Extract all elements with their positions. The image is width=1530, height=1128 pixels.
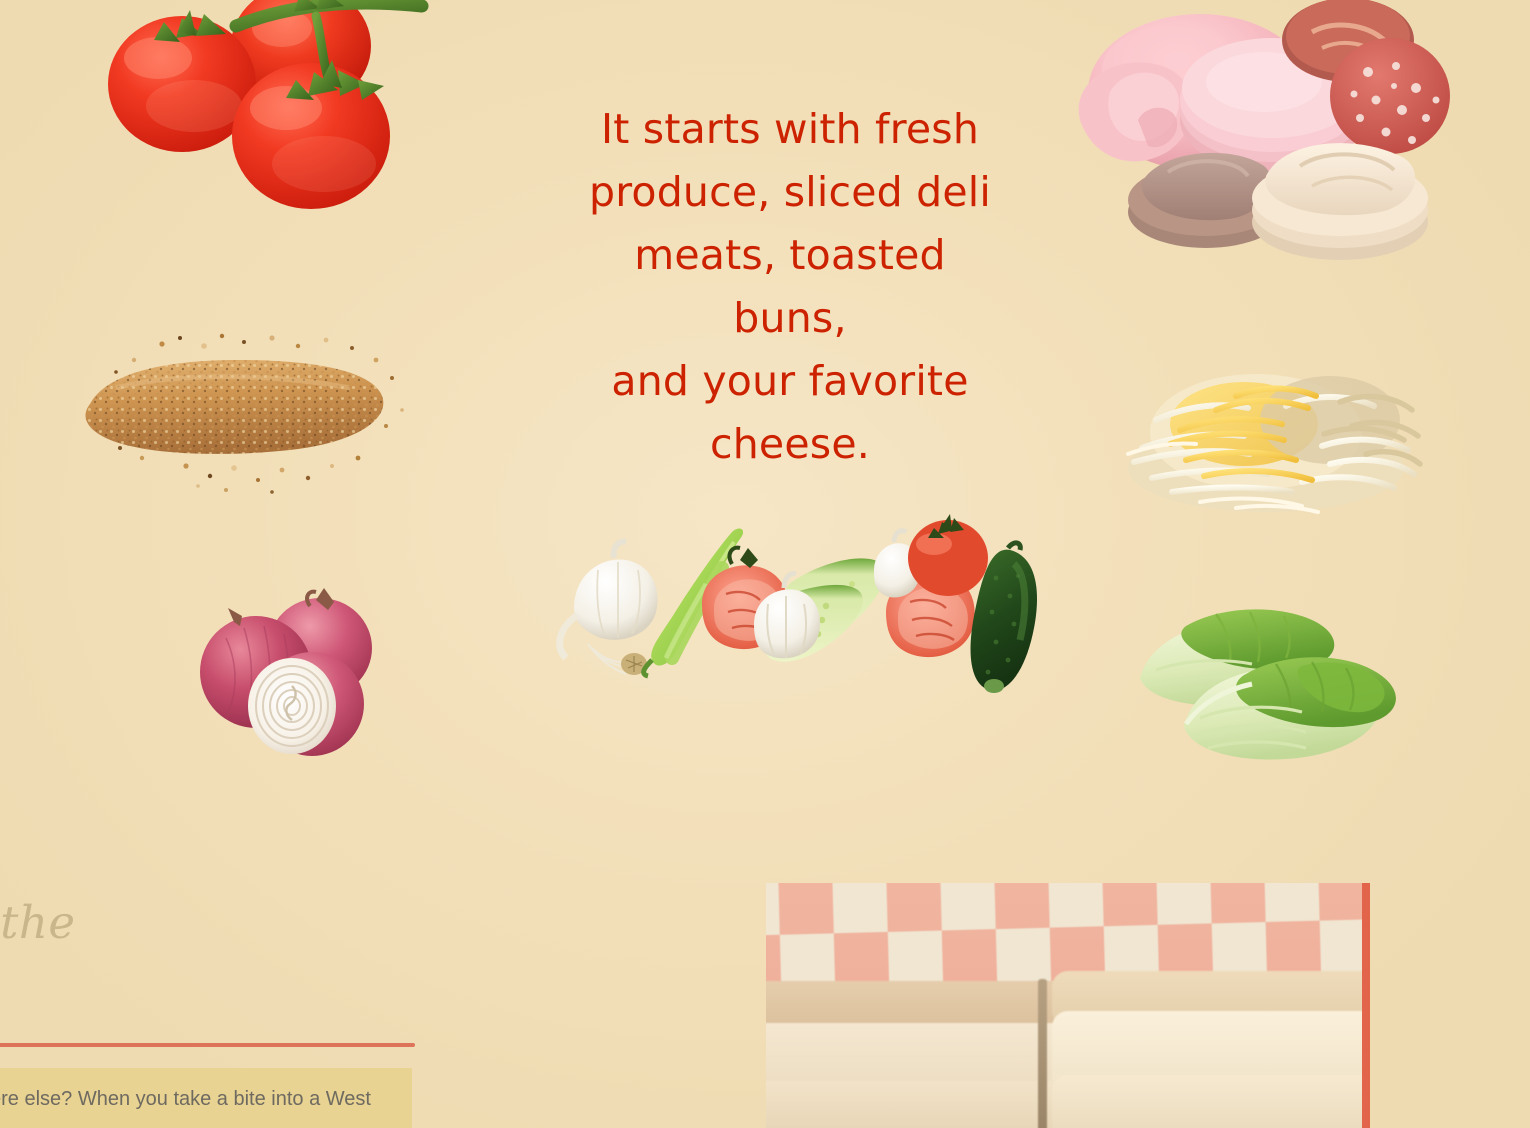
tomatoes-on-vine-image (86, 0, 446, 228)
lower-section-body-text: ere else? When you take a bite into a We… (46, 1082, 412, 1116)
deli-meats-image (1050, 0, 1450, 262)
page-headline: It starts with fresh produce, sliced del… (580, 98, 1000, 476)
romaine-lettuce-image (1126, 586, 1416, 772)
lower-section-body-panel: ere else? When you take a bite into a We… (0, 1068, 412, 1128)
red-onions-image (200, 586, 390, 772)
lower-section-partial-heading: n the (0, 896, 75, 949)
section-divider (0, 1043, 415, 1047)
sandwich-photo-card[interactable] (766, 883, 1370, 1128)
mixed-vegetables-image (556, 512, 1046, 712)
seeded-bread-roll-image (76, 330, 416, 500)
page-background: It starts with fresh produce, sliced del… (0, 0, 1530, 1128)
sandwich-roll-right-bottom (1052, 1075, 1362, 1128)
shredded-cheese-image (1116, 336, 1422, 518)
sandwich-photo (766, 883, 1362, 1128)
sandwich-roll-seam (1038, 979, 1047, 1128)
